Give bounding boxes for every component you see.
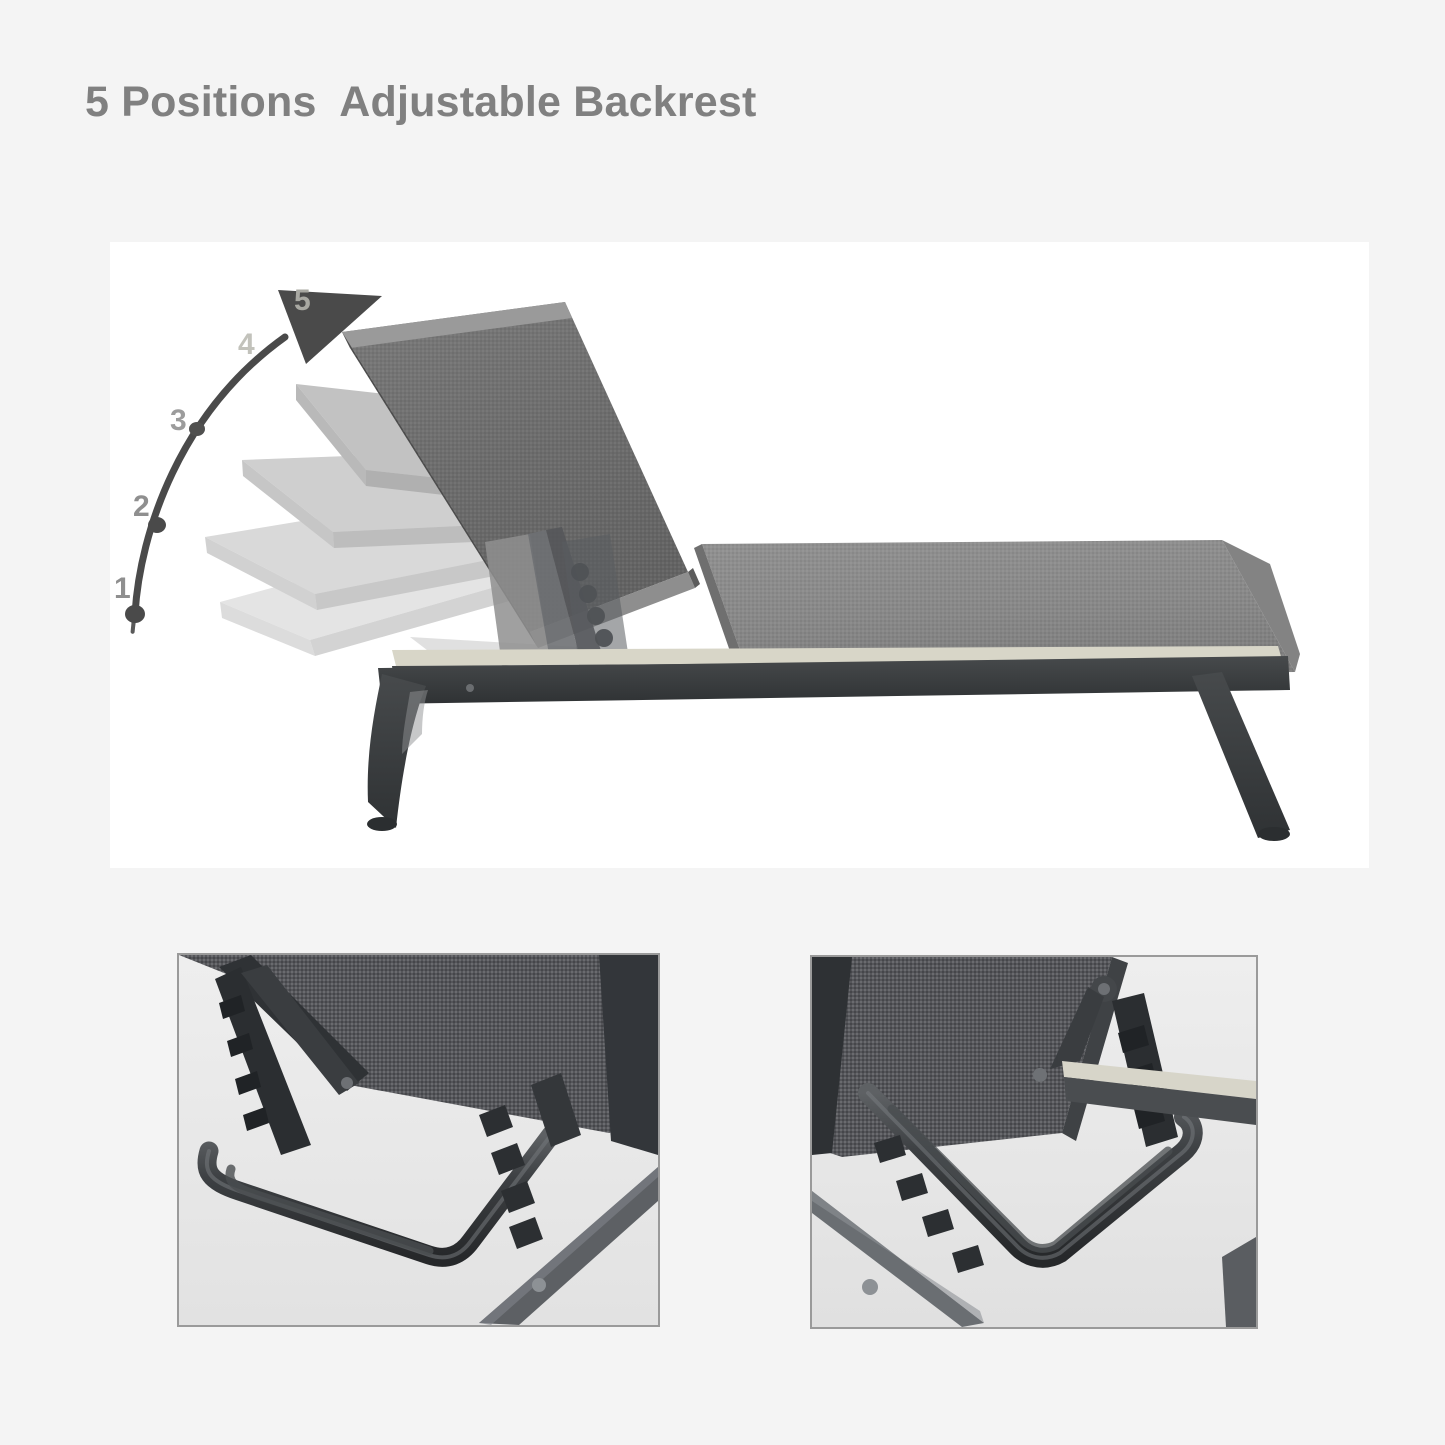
hinge-rivet-right: [1033, 1068, 1047, 1082]
front-foot: [367, 817, 397, 831]
hero-panel: 1 2 3 4 5: [110, 242, 1369, 868]
adjustable-backrest-illustration: 1 2 3 4 5: [110, 242, 1369, 868]
recline-mechanism-left-illustration: [179, 955, 658, 1325]
hinge-rivet-left: [341, 1077, 353, 1089]
position-label-2: 2: [133, 490, 150, 523]
position-label-5: 5: [294, 284, 311, 317]
hero-stage: 1 2 3 4 5: [110, 242, 1369, 868]
marker-dot-3: [189, 422, 205, 436]
page-title: 5 Positions Adjustable Backrest: [85, 78, 757, 127]
chair-frame: [367, 656, 1290, 841]
position-label-4: 4: [238, 328, 255, 361]
position-label-1: 1: [114, 572, 131, 605]
position-label-3: 3: [170, 404, 187, 437]
rear-leg: [1192, 672, 1290, 838]
marker-dot-2: [148, 517, 166, 533]
detail-close-up-left: [177, 953, 660, 1327]
detail-close-up-right: [810, 955, 1258, 1329]
recline-mechanism-right-illustration: [812, 957, 1256, 1327]
marker-dot-1: [125, 605, 145, 623]
rear-foot: [1258, 827, 1290, 841]
